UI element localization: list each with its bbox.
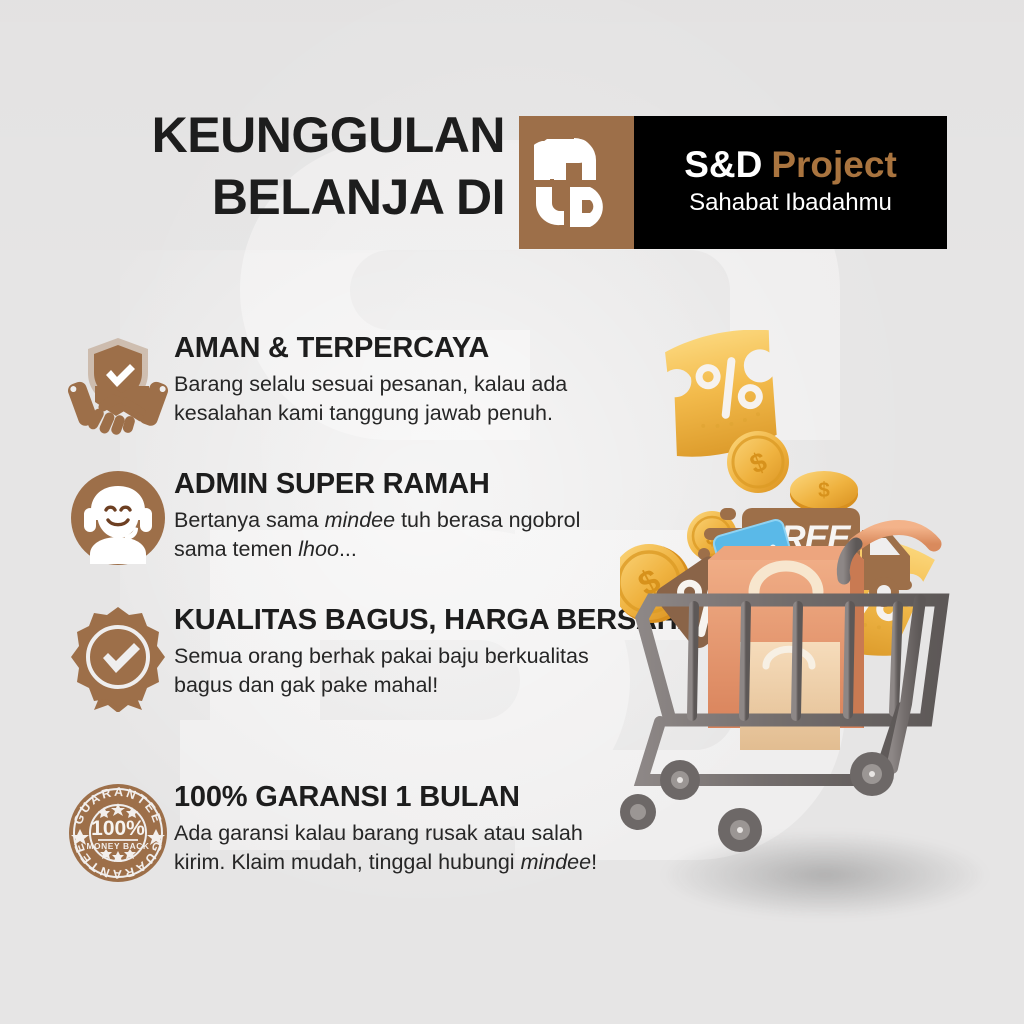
feature-description-text: Bertanya sama bbox=[174, 508, 325, 532]
feature-description: Semua orang berhak pakai baju berkualita… bbox=[174, 642, 624, 700]
money-back-guarantee-stamp-icon: GUARANTEE GUARANTEE bbox=[62, 779, 174, 885]
feature-description-emphasis: mindee bbox=[521, 850, 592, 874]
promo-poster: KEUNGGULAN BELANJA DI bbox=[0, 0, 1024, 1024]
svg-text:100%: 100% bbox=[91, 817, 145, 840]
feature-title: ADMIN SUPER RAMAH bbox=[174, 466, 624, 502]
svg-text:MONEY BACK: MONEY BACK bbox=[86, 841, 149, 851]
feature-description-text-3: ... bbox=[339, 537, 357, 561]
feature-description-text: Barang selalu sesuai pesanan, kalau ada … bbox=[174, 372, 567, 425]
feature-description: Bertanya sama mindee tuh berasa ngobrol … bbox=[174, 506, 624, 564]
handshake-shield-icon bbox=[62, 330, 174, 436]
feature-item-aman-terpercaya: AMAN & TERPERCAYA Barang selalu sesuai p… bbox=[62, 330, 624, 436]
feature-title: 100% GARANSI 1 BULAN bbox=[174, 779, 624, 815]
feature-description-text-2: ! bbox=[591, 850, 597, 874]
quality-badge-icon bbox=[62, 602, 174, 712]
feature-body: ADMIN SUPER RAMAH Bertanya sama mindee t… bbox=[174, 466, 624, 564]
feature-description: Ada garansi kalau barang rusak atau sala… bbox=[174, 819, 624, 877]
shopping-illustration: $ $ $ $ bbox=[620, 330, 1024, 930]
shopping-bag bbox=[740, 642, 840, 750]
headset-agent-icon bbox=[62, 466, 174, 568]
feature-item-garansi: GUARANTEE GUARANTEE bbox=[62, 779, 624, 885]
gold-coin: $ bbox=[727, 431, 789, 493]
svg-text:$: $ bbox=[818, 479, 830, 502]
feature-title: AMAN & TERPERCAYA bbox=[174, 330, 624, 366]
feature-description-text: Semua orang berhak pakai baju berkualita… bbox=[174, 644, 589, 697]
feature-body: 100% GARANSI 1 BULAN Ada garansi kalau b… bbox=[174, 779, 624, 877]
feature-description-emphasis-2: lhoo bbox=[298, 537, 339, 561]
gold-coin: $ bbox=[790, 471, 858, 513]
feature-description-emphasis: mindee bbox=[325, 508, 396, 532]
feature-description: Barang selalu sesuai pesanan, kalau ada … bbox=[174, 370, 624, 428]
feature-body: AMAN & TERPERCAYA Barang selalu sesuai p… bbox=[174, 330, 624, 428]
feature-item-admin-ramah: ADMIN SUPER RAMAH Bertanya sama mindee t… bbox=[62, 466, 624, 568]
cart-wheels bbox=[620, 752, 894, 852]
